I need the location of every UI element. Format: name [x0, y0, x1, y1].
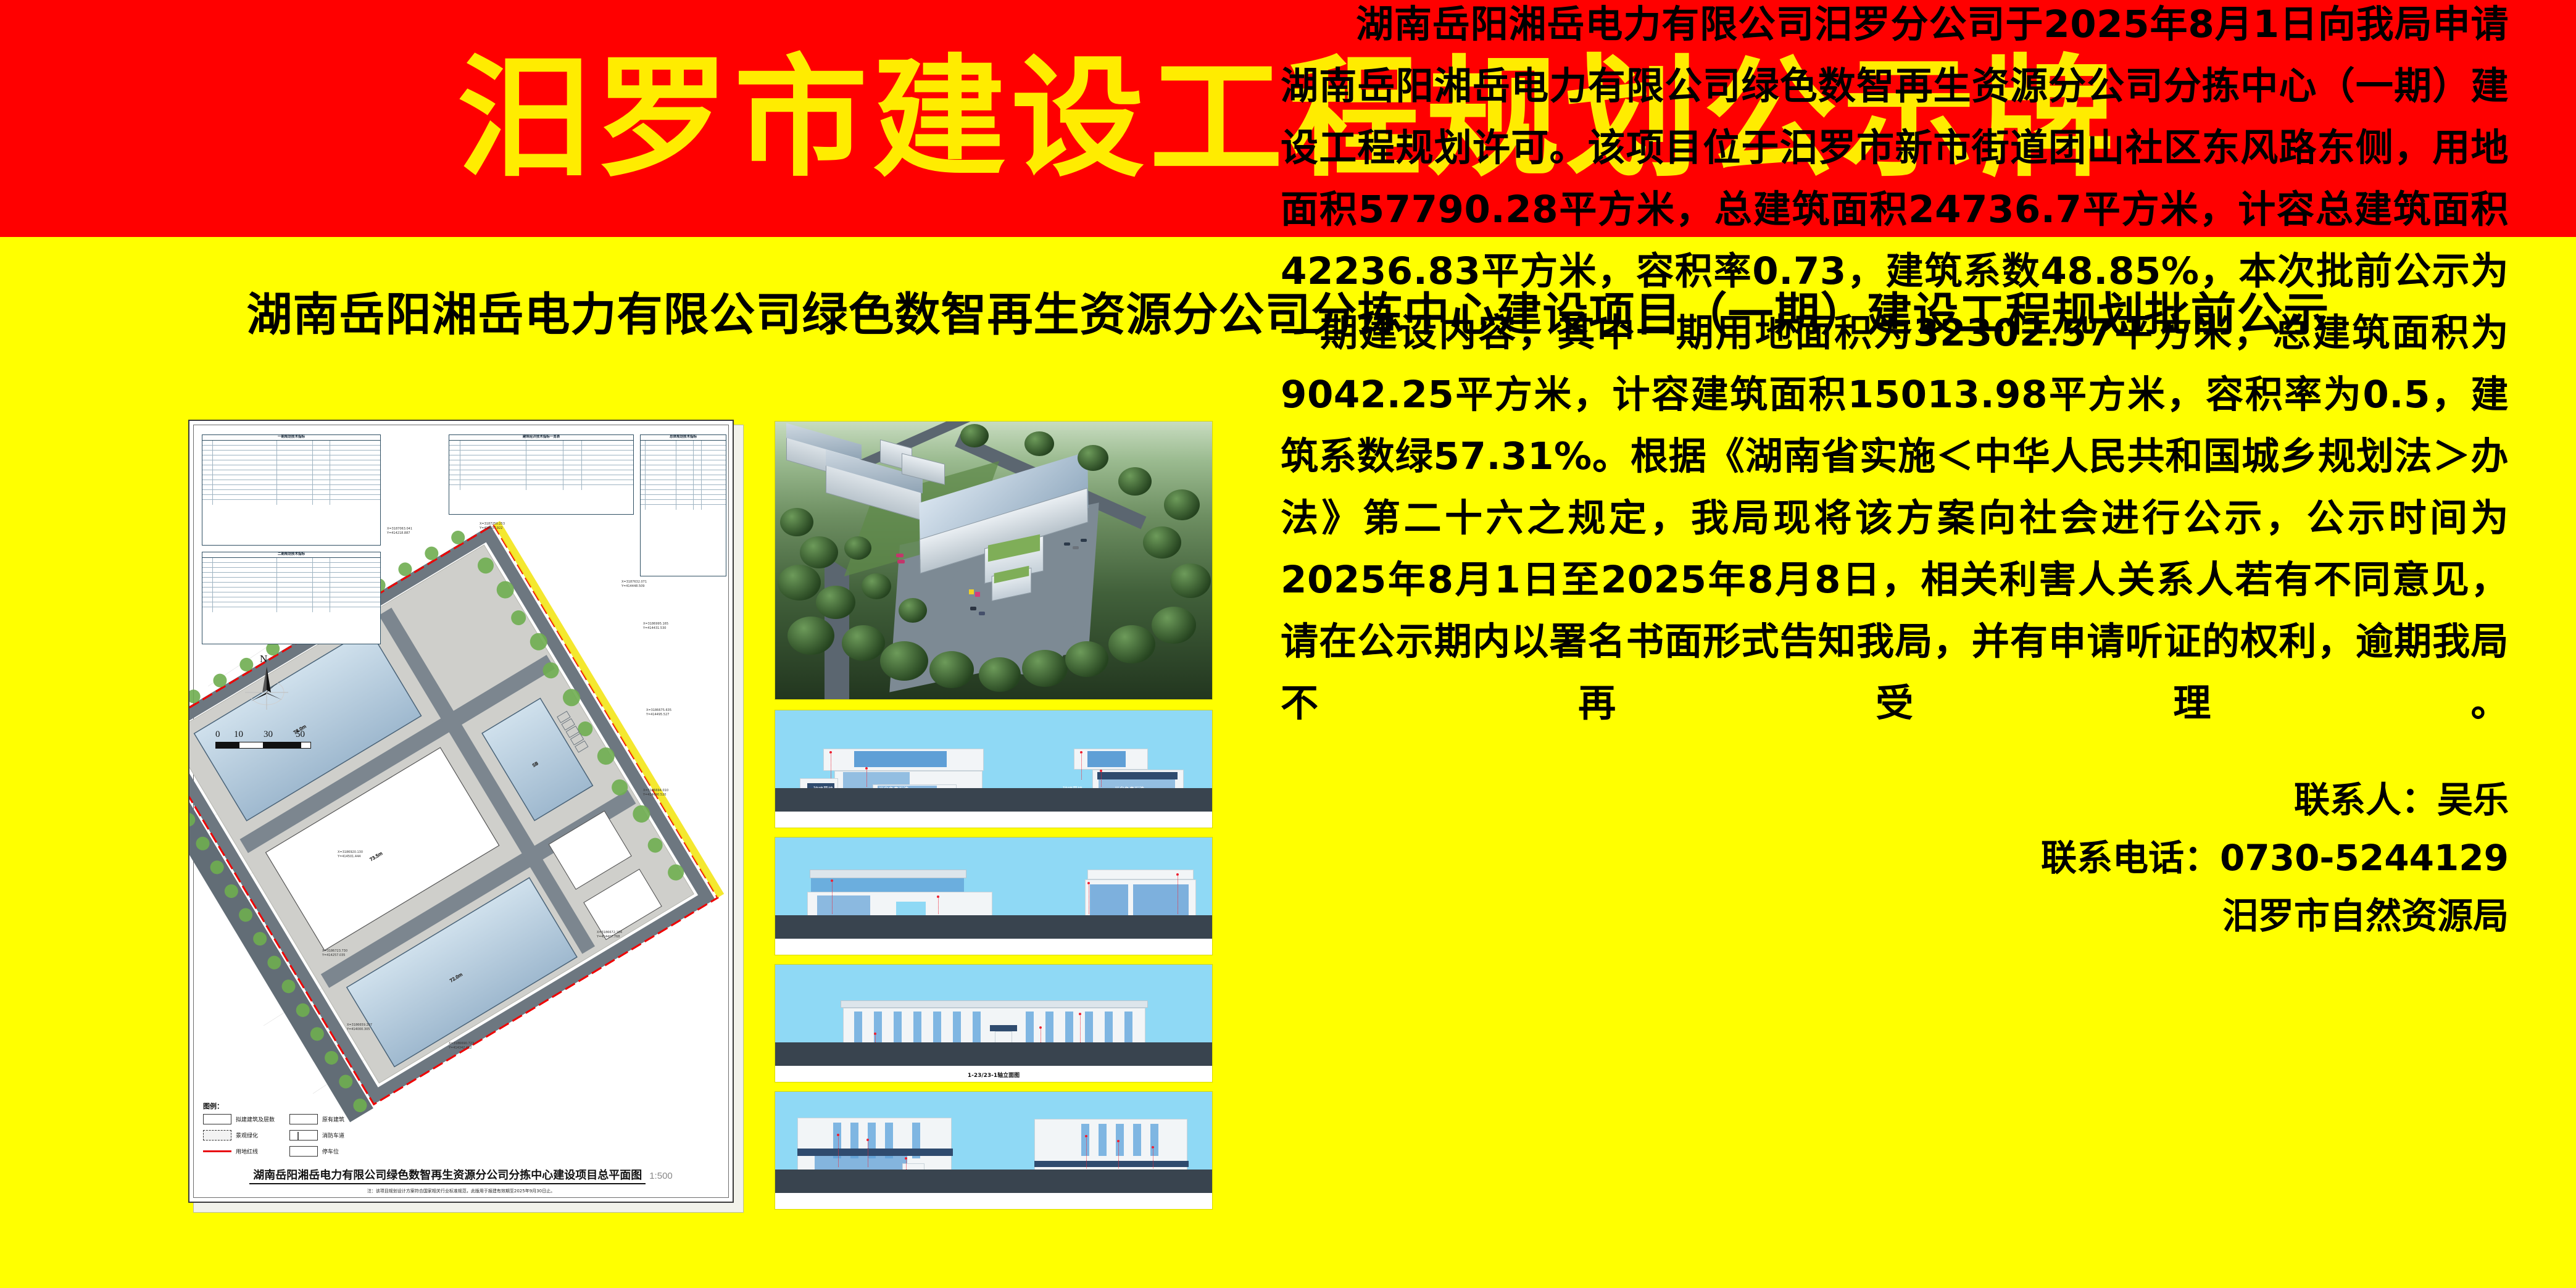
table-building-economics: 建筑经济技术指标一览表	[449, 434, 634, 515]
legend-swatch-red-line-icon	[203, 1146, 231, 1157]
legend-item: 消防车道	[289, 1130, 376, 1141]
legend-swatch-green-space-icon	[203, 1130, 231, 1141]
table-title: 二期规划技术指标	[202, 552, 380, 558]
issuing-authority: 汨罗市自然资源局	[1281, 887, 2509, 945]
elevation-drawing-pair: 浅蓝色玻璃 浅灰色真石漆 米白色真石漆 J-A轴立面图	[775, 1092, 1212, 1209]
contact-phone: 联系电话：0730-5244129	[1281, 829, 2509, 887]
scale-tick-10: 10	[234, 729, 243, 740]
elevation-caption: 1-23/23-1轴立面图	[968, 1071, 1020, 1079]
legend-label: 景观绿化	[236, 1131, 258, 1139]
elevation-card-4[interactable]: 浅蓝色玻璃 浅灰色真石漆 米白色真石漆 J-A轴立面图	[775, 1091, 1213, 1210]
site-plan-panel[interactable]: 78.0m 73.5m 72.0m SB X=3187063.041Y=4142…	[188, 420, 744, 1213]
scale-tick-30: 30	[264, 729, 273, 740]
table-title: 总体规划技术指标	[641, 435, 726, 441]
scale-tick-50: 50	[296, 729, 305, 740]
elevation-card-1[interactable]: 玻璃幕墙 米白色真石漆 1-7轴立面图 玻璃幕墙	[775, 710, 1213, 828]
legend-item: 拟建建筑及层数	[203, 1114, 289, 1124]
elevation-caption-band	[775, 1193, 1212, 1209]
legend-label: 停车位	[322, 1147, 339, 1155]
compass-north-label: N	[260, 653, 267, 665]
legend-label: 用地红线	[236, 1147, 258, 1155]
elevation-ground-band	[775, 1170, 1212, 1193]
legend-item: 停车位	[289, 1146, 376, 1157]
scale-tick-0: 0	[215, 729, 220, 740]
legend-item: 用地红线	[203, 1146, 289, 1157]
legend-title: 图例：	[203, 1101, 376, 1111]
legend-item: 原有建筑	[289, 1114, 376, 1124]
site-plan-note: 注：该项目规划设计方案符合国家相关行业标准规范，此版用于报建有效期至2025年9…	[189, 1188, 733, 1194]
table-phase1-indicators: 一期规划技术指标	[202, 434, 381, 546]
compass-rose: N	[239, 655, 294, 717]
legend-swatch-existing-building-icon	[289, 1114, 318, 1124]
elevation-drawing-pair: 玻璃幕墙 米白色真石漆 1-7轴立面图 玻璃幕墙	[775, 710, 1212, 828]
aerial-rendering-scene	[775, 422, 1212, 699]
legend-swatch-parking-icon	[289, 1146, 318, 1157]
announcement-body: 湖南岳阳湘岳电力有限公司汨罗分公司于2025年8月1日向我局申请湖南岳阳湘岳电力…	[1281, 0, 2509, 734]
elevation-caption-band	[775, 939, 1212, 955]
legend-swatch-fire-lane-icon	[289, 1130, 318, 1141]
table-overall-indicators: 总体规划技术指标	[640, 434, 726, 576]
scale-bar: 0 10 30 50	[215, 729, 320, 754]
table-title: 建筑经济技术指标一览表	[449, 435, 633, 441]
rendering-column: 玻璃幕墙 米白色真石漆 1-7轴立面图 玻璃幕墙	[775, 420, 1213, 1213]
legend-label: 消防车道	[322, 1131, 344, 1139]
legend-label: 原有建筑	[322, 1115, 344, 1123]
table-title: 一期规划技术指标	[202, 435, 380, 441]
elevation-ground-band	[775, 788, 1212, 812]
announcement-paragraph: 湖南岳阳湘岳电力有限公司汨罗分公司于2025年8月1日向我局申请湖南岳阳湘岳电力…	[1281, 0, 2509, 734]
map-legend: 图例： 拟建建筑及层数 原有建筑 景观绿化	[203, 1101, 376, 1162]
contact-block: 联系人：吴乐 联系电话：0730-5244129 汨罗市自然资源局	[1281, 771, 2509, 945]
legend-label: 拟建建筑及层数	[236, 1115, 275, 1123]
contact-person: 联系人：吴乐	[1281, 771, 2509, 829]
elevation-ground-band	[775, 915, 1212, 939]
announcement-column: 湖南岳阳湘岳电力有限公司汨罗分公司于2025年8月1日向我局申请湖南岳阳湘岳电力…	[1281, 0, 2509, 734]
site-plan-caption: 湖南岳阳湘岳电力有限公司绿色数智再生资源分公司分拣中心建设项目总平面图1:500	[189, 1166, 733, 1184]
elevation-card-3[interactable]: 米白色真石漆 浅灰色真石漆 浅蓝色玻璃 1-23/23-1轴立面图	[775, 964, 1213, 1082]
scale-bar-graphic	[215, 742, 311, 749]
site-plan-sheet: 78.0m 73.5m 72.0m SB X=3187063.041Y=4142…	[188, 420, 734, 1203]
elevation-drawing-single: 米白色真石漆 浅灰色真石漆 浅蓝色玻璃 1-23/23-1轴立面图	[775, 965, 1212, 1082]
site-plan-caption-text: 湖南岳阳湘岳电力有限公司绿色数智再生资源分公司分拣中心建设项目总平面图	[249, 1166, 646, 1184]
elevation-ground-band	[775, 1042, 1212, 1066]
aerial-rendering[interactable]	[775, 421, 1213, 700]
elevation-card-2[interactable]: 玻璃幕墙 米白色真石漆 7-1轴立面图 米白色真石漆 玻璃幕墙	[775, 837, 1213, 955]
legend-swatch-new-building-icon	[203, 1114, 231, 1124]
table-phase2-indicators: 二期规划技术指标	[202, 552, 381, 644]
elevation-drawing-pair: 玻璃幕墙 米白色真石漆 7-1轴立面图 米白色真石漆 玻璃幕墙	[775, 837, 1212, 955]
elevation-caption-band	[775, 812, 1212, 828]
legend-item: 景观绿化	[203, 1130, 289, 1141]
site-plan-scale: 1:500	[649, 1171, 673, 1181]
